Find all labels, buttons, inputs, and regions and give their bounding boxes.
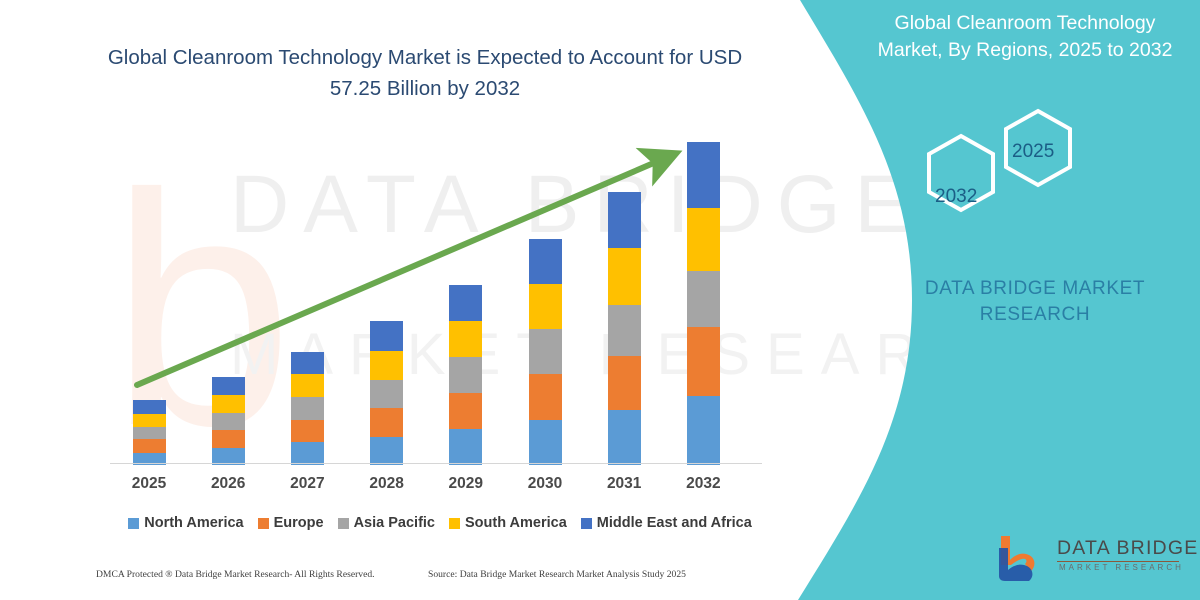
legend-label: North America [144, 515, 243, 531]
bar-segment-asia-pacific [370, 380, 403, 409]
bar-segment-europe [687, 327, 720, 396]
hexagon-group: 2032 2025 [915, 108, 1115, 233]
bar-2026 [212, 377, 245, 465]
bar-segment-asia-pacific [529, 329, 562, 374]
chart-plot-area [110, 140, 770, 465]
chart-legend: North AmericaEuropeAsia PacificSouth Ame… [110, 512, 770, 534]
legend-item-south-america[interactable]: South America [449, 515, 567, 531]
logo-wordmark: DATA BRIDGE [1057, 537, 1198, 560]
legend-swatch-icon [449, 518, 460, 529]
infographic-canvas: b DATA BRIDGE MARKET RESEARCH Global Cle… [0, 0, 1200, 600]
bar-segment-south-america [687, 208, 720, 271]
bar-segment-north-america [608, 410, 641, 465]
panel-brand-line1: DATA BRIDGE MARKET [900, 276, 1170, 302]
bar-segment-asia-pacific [449, 357, 482, 393]
footer-source: Source: Data Bridge Market Research Mark… [428, 569, 686, 580]
bar-2032 [687, 142, 720, 465]
bar-segment-south-america [212, 395, 245, 412]
legend-item-middle-east-and-africa[interactable]: Middle East and Africa [581, 515, 752, 531]
x-label-2026: 2026 [193, 475, 263, 493]
footer-copyright: DMCA Protected ® Data Bridge Market Rese… [96, 569, 375, 580]
logo-divider [1057, 561, 1179, 562]
bar-segment-europe [291, 420, 324, 443]
legend-swatch-icon [338, 518, 349, 529]
bar-segment-north-america [449, 429, 482, 465]
x-label-2025: 2025 [114, 475, 184, 493]
bar-2030 [529, 239, 562, 465]
bar-segment-middle-east-and-africa [370, 321, 403, 351]
bar-segment-middle-east-and-africa [529, 239, 562, 284]
bar-segment-europe [608, 356, 641, 411]
legend-item-asia-pacific[interactable]: Asia Pacific [338, 515, 435, 531]
bar-segment-asia-pacific [608, 305, 641, 356]
bar-segment-south-america [608, 248, 641, 305]
legend-label: South America [465, 515, 567, 531]
bar-segment-south-america [370, 351, 403, 380]
legend-label: Europe [274, 515, 324, 531]
bar-segment-middle-east-and-africa [133, 400, 166, 413]
bar-segment-europe [449, 393, 482, 429]
bar-2027 [291, 352, 324, 465]
x-axis-line [110, 463, 762, 464]
legend-label: Middle East and Africa [597, 515, 752, 531]
bar-segment-north-america [687, 396, 720, 465]
panel-title: Global Cleanroom Technology Market, By R… [860, 10, 1190, 64]
legend-label: Asia Pacific [354, 515, 435, 531]
bar-segment-south-america [449, 321, 482, 357]
x-label-2031: 2031 [589, 475, 659, 493]
bar-segment-europe [529, 374, 562, 419]
legend-item-north-america[interactable]: North America [128, 515, 243, 531]
panel-brand-line2: RESEARCH [900, 302, 1170, 328]
bar-segment-asia-pacific [212, 413, 245, 430]
bar-segment-middle-east-and-africa [212, 377, 245, 396]
bar-2028 [370, 321, 403, 465]
legend-swatch-icon [128, 518, 139, 529]
bar-segment-asia-pacific [133, 427, 166, 439]
logo-tagline: MARKET RESEARCH [1059, 563, 1184, 572]
bar-segment-middle-east-and-africa [449, 285, 482, 321]
bar-segment-asia-pacific [291, 397, 324, 420]
hexagon-2025-label: 2025 [1012, 141, 1054, 163]
bar-2029 [449, 285, 482, 465]
bar-segment-north-america [370, 437, 403, 465]
x-label-2032: 2032 [668, 475, 738, 493]
bar-segment-north-america [291, 442, 324, 465]
legend-item-europe[interactable]: Europe [258, 515, 324, 531]
x-label-2029: 2029 [431, 475, 501, 493]
bar-segment-middle-east-and-africa [687, 142, 720, 208]
x-axis-labels: 20252026202720282029203020312032 [110, 475, 770, 499]
bar-2031 [608, 192, 641, 465]
logo-mark-icon [995, 534, 1055, 582]
legend-swatch-icon [258, 518, 269, 529]
bar-2025 [133, 400, 166, 465]
data-bridge-logo: DATA BRIDGE MARKET RESEARCH [995, 534, 1185, 584]
bar-segment-south-america [291, 374, 324, 397]
bar-segment-middle-east-and-africa [608, 192, 641, 248]
bar-segment-middle-east-and-africa [291, 352, 324, 375]
bar-segment-asia-pacific [687, 271, 720, 328]
bar-segment-europe [133, 439, 166, 452]
bar-segment-north-america [529, 420, 562, 465]
panel-brand-text: DATA BRIDGE MARKET RESEARCH [900, 276, 1170, 328]
bar-segment-europe [370, 408, 403, 437]
chart-title: Global Cleanroom Technology Market is Ex… [95, 42, 755, 104]
x-label-2027: 2027 [272, 475, 342, 493]
bar-segment-south-america [529, 284, 562, 329]
bar-segment-south-america [133, 414, 166, 427]
x-label-2030: 2030 [510, 475, 580, 493]
hexagon-2032-label: 2032 [935, 186, 977, 208]
legend-swatch-icon [581, 518, 592, 529]
x-label-2028: 2028 [352, 475, 422, 493]
bar-segment-europe [212, 430, 245, 447]
